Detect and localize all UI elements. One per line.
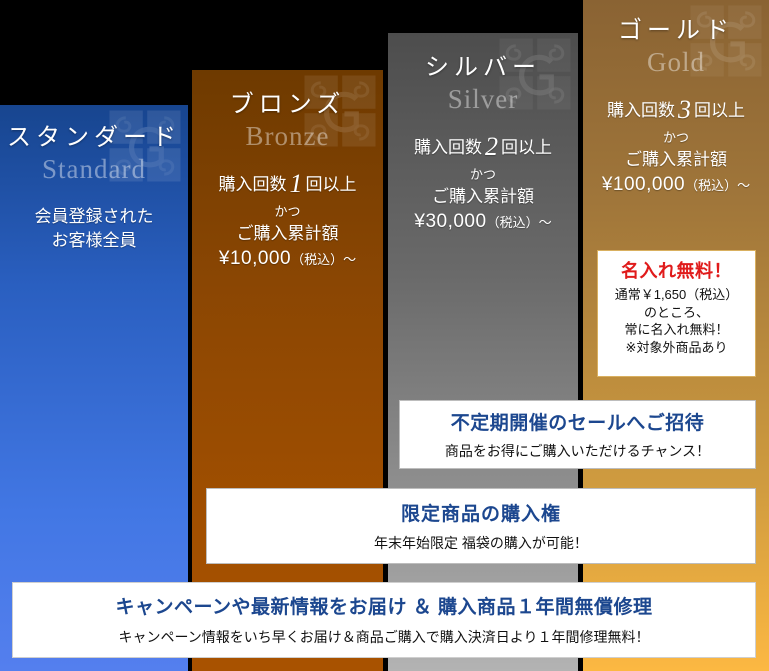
tax-note: （税込）〜 (291, 252, 356, 267)
total-amount-row: ¥10,000（税込）〜 (192, 246, 383, 273)
tier-column-bronze: ブロンズ Bronze 購入回数1回以上 かつ ご購入累計額 ¥10,000（税… (192, 70, 383, 671)
purchase-count: 2 (482, 132, 501, 161)
benefit-box-engraving: 名入れ無料！ 通常￥1,650（税込） のところ、 常に名入れ無料！ ※対象外商… (597, 250, 756, 377)
benefit-title: 限定商品の購入権 (207, 503, 755, 528)
total-amount: ¥10,000 (219, 248, 291, 269)
tier-purchase-count-row: 購入回数1回以上 (192, 166, 383, 203)
conjunction: かつ (388, 166, 578, 184)
conjunction: かつ (192, 203, 383, 221)
tier-name-en-bronze: Bronze (192, 120, 383, 154)
benefit-subtitle: キャンペーン情報をいち早くお届け＆商品ご購入で購入決済日より１年間修理無料！ (13, 628, 755, 647)
total-amount-row: ¥30,000（税込）〜 (388, 209, 578, 236)
total-label: ご購入累計額 (583, 148, 769, 172)
conjunction: かつ (583, 129, 769, 147)
total-amount-row: ¥100,000（税込）〜 (583, 172, 769, 199)
tier-condition-gold: 購入回数3回以上 かつ ご購入累計額 ¥100,000（税込）〜 (583, 92, 769, 198)
benefit-sub-line-3: 常に名入れ無料！ (598, 321, 755, 339)
purchase-prefix: 購入回数 (219, 175, 287, 194)
benefit-box-limited-items: 限定商品の購入権 年末年始限定 福袋の購入が可能！ (206, 488, 756, 564)
benefit-title: 名入れ無料！ (598, 260, 755, 283)
tier-purchase-count-row: 購入回数3回以上 (583, 92, 769, 129)
benefit-sub-line-2: のところ、 (598, 304, 755, 322)
benefit-sub-line-1: 通常￥1,650（税込） (598, 286, 755, 304)
tier-condition-line-2: お客様全員 (0, 229, 188, 253)
purchase-prefix: 購入回数 (414, 138, 482, 157)
tier-condition-line-1: 会員登録された (0, 205, 188, 229)
tier-condition-standard: 会員登録された お客様全員 (0, 205, 188, 253)
total-amount: ¥30,000 (414, 211, 486, 232)
tier-name-en-gold: Gold (583, 46, 769, 80)
purchase-count: 1 (287, 169, 306, 198)
purchase-suffix: 回以上 (694, 101, 745, 120)
benefit-subtitle: 通常￥1,650（税込） のところ、 常に名入れ無料！ ※対象外商品あり (598, 286, 755, 356)
purchase-suffix: 回以上 (306, 175, 357, 194)
purchase-suffix: 回以上 (501, 138, 552, 157)
tier-purchase-count-row: 購入回数2回以上 (388, 129, 578, 166)
tax-note: （税込）〜 (487, 215, 552, 230)
tier-name-jp-standard: スタンダード (0, 125, 188, 151)
benefit-subtitle: 商品をお得にご購入いただけるチャンス！ (400, 442, 755, 461)
tier-name-jp-silver: シルバー (388, 55, 578, 81)
total-label: ご購入累計額 (192, 222, 383, 246)
total-amount: ¥100,000 (602, 174, 685, 195)
benefit-subtitle: 年末年始限定 福袋の購入が可能！ (207, 534, 755, 553)
tier-name-jp-gold: ゴールド (583, 18, 769, 44)
benefit-box-sale-invite: 不定期開催のセールへご招待 商品をお得にご購入いただけるチャンス！ (399, 400, 756, 469)
tier-name-en-silver: Silver (388, 83, 578, 117)
benefit-title: キャンペーンや最新情報をお届け ＆ 購入商品１年間無償修理 (13, 596, 755, 621)
total-label: ご購入累計額 (388, 185, 578, 209)
benefit-sub-line-4: ※対象外商品あり (598, 339, 755, 357)
tier-condition-bronze: 購入回数1回以上 かつ ご購入累計額 ¥10,000（税込）〜 (192, 166, 383, 272)
tier-condition-silver: 購入回数2回以上 かつ ご購入累計額 ¥30,000（税込）〜 (388, 129, 578, 235)
tier-column-silver: シルバー Silver 購入回数2回以上 かつ ご購入累計額 ¥30,000（税… (388, 33, 578, 671)
tax-note: （税込）〜 (685, 178, 750, 193)
tier-name-jp-bronze: ブロンズ (192, 92, 383, 118)
benefit-box-campaign-repair: キャンペーンや最新情報をお届け ＆ 購入商品１年間無償修理 キャンペーン情報をい… (12, 582, 756, 658)
purchase-prefix: 購入回数 (607, 101, 675, 120)
purchase-count: 3 (675, 95, 694, 124)
benefit-title: 不定期開催のセールへご招待 (400, 412, 755, 437)
membership-tier-chart: スタンダード Standard 会員登録された お客様全員 ブロンズ Bronz… (0, 0, 769, 671)
tier-name-en-standard: Standard (0, 153, 188, 187)
